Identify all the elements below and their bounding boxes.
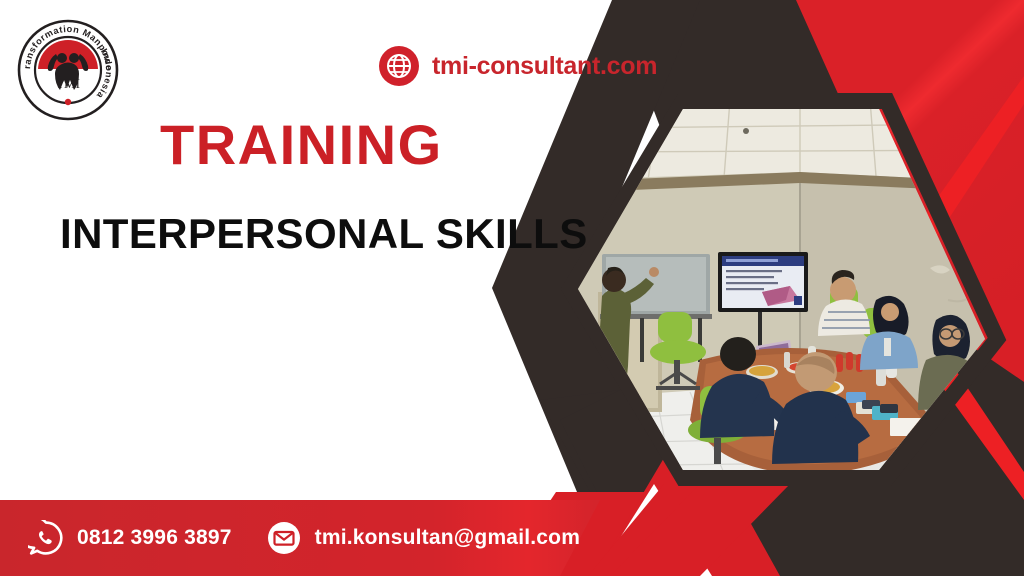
contact-email[interactable]: tmi.konsultan@gmail.com <box>266 520 580 556</box>
logo-monogram: TMI <box>56 76 80 91</box>
eyebrow-title: TRAINING <box>160 117 443 173</box>
poster-canvas: TMI Transformation Manpower Indonesia <box>0 0 1024 576</box>
contact-footer: 0812 3996 3897 tmi.konsultan@gmail.com <box>0 500 600 576</box>
contact-phone[interactable]: 0812 3996 3897 <box>28 520 232 556</box>
envelope-icon <box>266 520 302 556</box>
page-title: INTERPERSONAL SKILLS <box>60 213 588 255</box>
website-url: tmi-consultant.com <box>432 52 657 81</box>
email-address: tmi.konsultan@gmail.com <box>315 526 580 550</box>
tmi-circular-logo-icon: TMI Transformation Manpower Indonesia <box>16 18 120 122</box>
tmi-logo: TMI Transformation Manpower Indonesia <box>16 18 120 122</box>
logo-dot <box>65 99 71 105</box>
globe-icon <box>378 45 420 87</box>
phone-number: 0812 3996 3897 <box>77 526 232 550</box>
whatsapp-icon <box>28 520 64 556</box>
website-badge[interactable]: tmi-consultant.com <box>378 45 657 87</box>
